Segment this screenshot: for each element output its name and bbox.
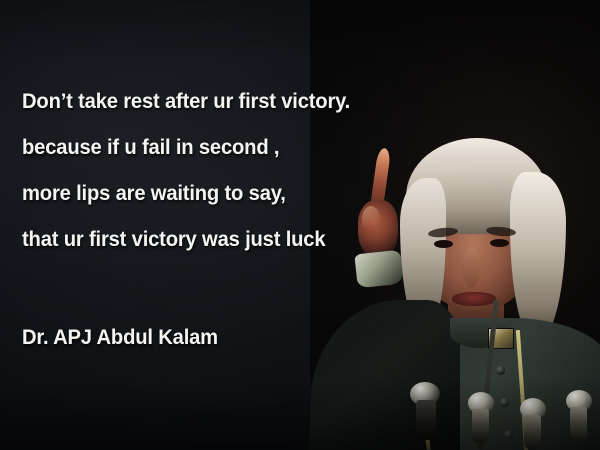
microphone-body: [472, 409, 489, 443]
quote-text-block: Don’t take rest after ur first victory. …: [22, 78, 422, 262]
eye-right: [490, 239, 509, 247]
quote-line-1: Don’t take rest after ur first victory.: [22, 78, 398, 124]
eye-left: [434, 240, 453, 248]
nose: [462, 248, 480, 288]
jacket-button: [496, 366, 505, 375]
jacket-button: [504, 430, 513, 439]
microphone-body: [416, 400, 436, 440]
microphone-body: [524, 415, 541, 449]
microphone-body: [570, 407, 587, 441]
quote-line-4: that ur first victory was just luck: [22, 216, 398, 262]
quote-line-3: more lips are waiting to say,: [22, 170, 398, 216]
quote-line-2: because if u fail in second ,: [22, 124, 398, 170]
quote-attribution: Dr. APJ Abdul Kalam: [22, 322, 218, 352]
quote-poster: Don’t take rest after ur first victory. …: [0, 0, 600, 450]
mouth: [452, 292, 496, 306]
jacket-button: [500, 398, 509, 407]
